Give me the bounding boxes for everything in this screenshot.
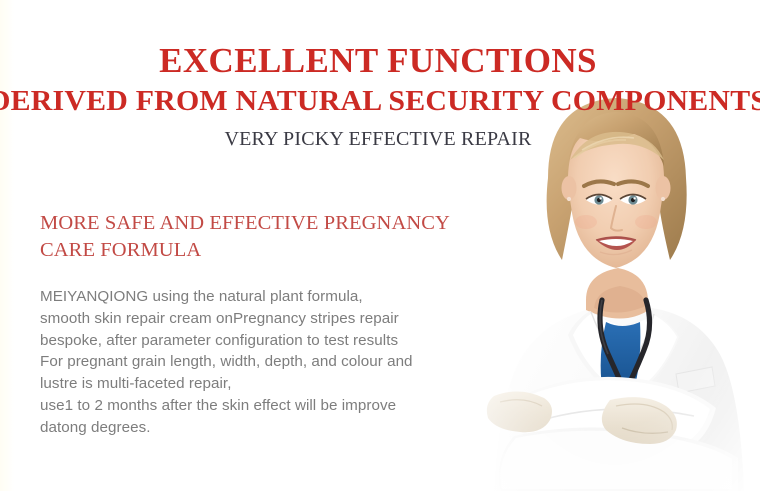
body-copy: MEIYANQIONG using the natural plant form… [40, 286, 470, 438]
headline-primary: EXCELLENT FUNCTIONS [0, 42, 756, 79]
banner-header: EXCELLENT FUNCTIONS DERIVED FROM NATURAL… [0, 42, 756, 151]
promo-banner: EXCELLENT FUNCTIONS DERIVED FROM NATURAL… [0, 0, 760, 491]
body-line: smooth skin repair cream onPregnancy str… [40, 308, 470, 330]
body-line: use1 to 2 months after the skin effect w… [40, 395, 470, 417]
headline-secondary: DERIVED FROM NATURAL SECURITY COMPONENTS [0, 85, 760, 117]
body-line: bespoke, after parameter configuration t… [40, 330, 470, 352]
headline-tertiary: VERY PICKY EFFECTIVE REPAIR [0, 128, 756, 151]
body-line: datong degrees. [40, 417, 470, 439]
sub-heading-line-1: MORE SAFE AND EFFECTIVE PREGNANCY [40, 212, 450, 234]
body-line: MEIYANQIONG using the natural plant form… [40, 286, 470, 308]
body-line: For pregnant grain length, width, depth,… [40, 351, 470, 373]
sub-heading: MORE SAFE AND EFFECTIVE PREGNANCY CARE F… [40, 210, 470, 264]
copy-block: MORE SAFE AND EFFECTIVE PREGNANCY CARE F… [40, 210, 470, 438]
sub-heading-line-2: CARE FORMULA [40, 239, 201, 261]
body-line: lustre is multi-faceted repair, [40, 373, 470, 395]
